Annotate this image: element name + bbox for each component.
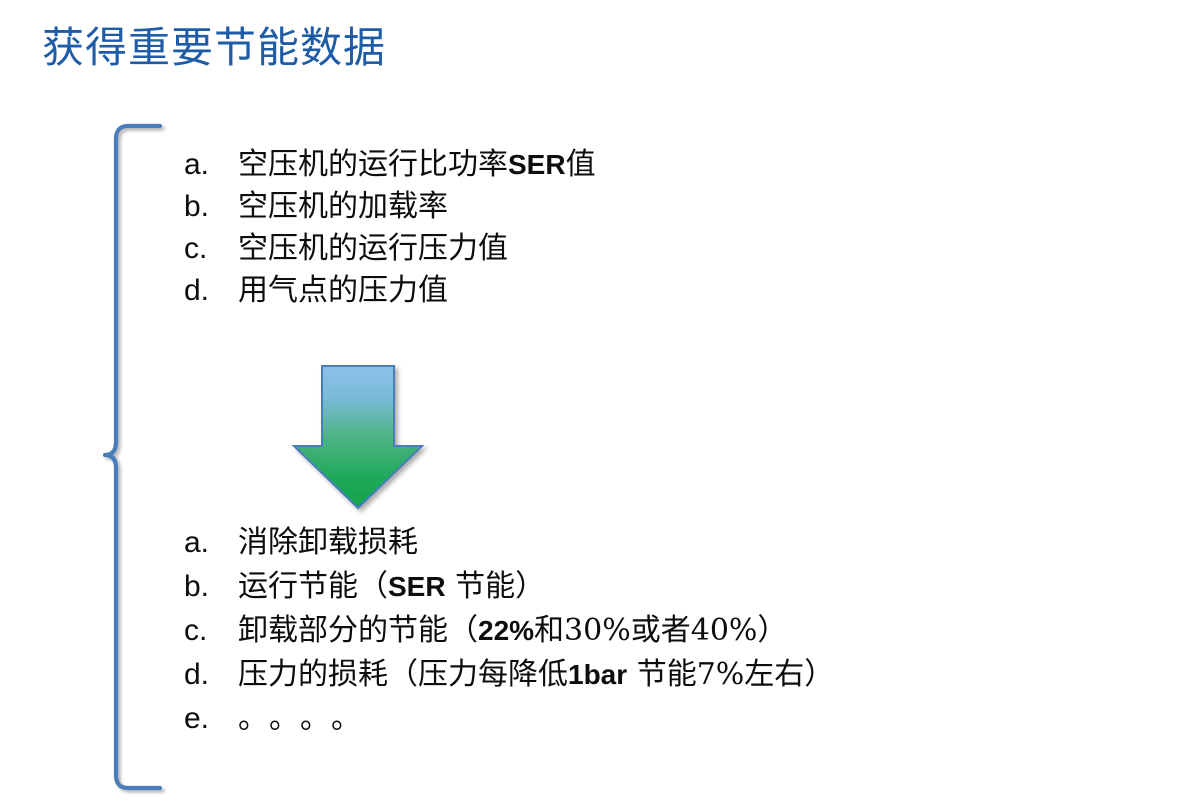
list-item-label: 消除卸载损耗 [238,528,418,558]
list-marker: a. [184,528,238,558]
list-item: b. 空压机的加载率 [184,192,596,234]
list-item: a. 空压机的运行比功率SER值 [184,150,596,192]
list-marker: d. [184,660,238,690]
list-item-latin: 1bar [568,659,627,690]
list-item: a. 消除卸载损耗 [184,528,834,572]
bottom-list: a. 消除卸载损耗 b. 运行节能（SER 节能） c. 卸载部分的节能（22%… [184,528,834,748]
list-item-latin: SER [388,571,446,602]
list-marker: d. [184,276,238,306]
list-item: c. 卸载部分的节能（22%和30%或者40%） [184,616,834,660]
page-title: 获得重要节能数据 [42,14,386,75]
list-item-latin: SER [508,149,566,180]
brace-stroke [105,126,160,788]
top-list: a. 空压机的运行比功率SER值 b. 空压机的加载率 c. 空压机的运行压力值… [184,150,596,318]
list-item: c. 空压机的运行压力值 [184,234,596,276]
list-marker: c. [184,234,238,264]
list-item-label: 运行节能（SER 节能） [238,572,545,602]
list-marker: e. [184,704,238,734]
list-item-label: 压力的损耗（压力每降低1bar 节能7%左右） [238,660,834,690]
list-item-label: 空压机的运行比功率SER值 [238,150,596,180]
list-item: e. 。。。。 [184,704,834,748]
list-marker: b. [184,192,238,222]
list-item: d. 压力的损耗（压力每降低1bar 节能7%左右） [184,660,834,704]
list-item: b. 运行节能（SER 节能） [184,572,834,616]
list-marker: c. [184,616,238,646]
list-item-label: 。。。。 [238,704,377,734]
list-item-label: 卸载部分的节能（22%和30%或者40%） [238,616,787,646]
list-marker: b. [184,572,238,602]
arrow-shape [294,366,422,508]
list-item: d. 用气点的压力值 [184,276,596,318]
ellipsis-dots: 。。。。 [238,701,377,736]
down-arrow-icon [280,358,436,518]
list-item-label: 用气点的压力值 [238,276,448,306]
list-item-latin: 22% [478,615,534,646]
list-item-label: 空压机的运行压力值 [238,234,508,264]
left-curly-brace [60,112,180,802]
list-marker: a. [184,150,238,180]
list-item-label: 空压机的加载率 [238,192,448,222]
